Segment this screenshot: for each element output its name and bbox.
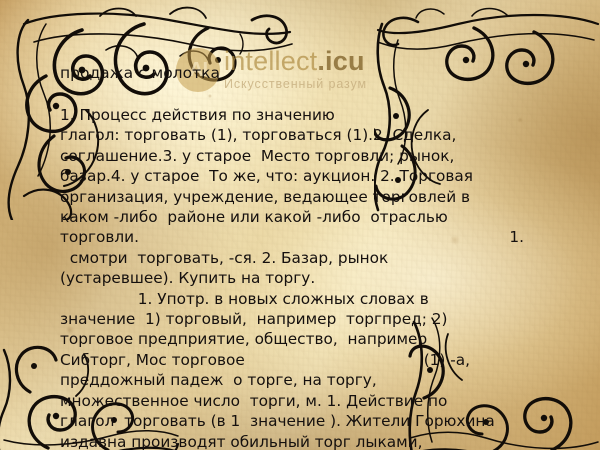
article-line: глагол: торговать (1), торговаться (1).2… — [60, 125, 532, 145]
article-line-text: значение 1) торговый, например торгпред;… — [60, 310, 447, 328]
article-line: 1. Употр. в новых сложных словах в — [60, 289, 532, 309]
article-line-text: смотри торговать, -ся. 2. Базар, рынок — [60, 249, 388, 267]
page-title: продажа с молотка — [60, 64, 560, 83]
article-line: смотри торговать, -ся. 2. Базар, рынок — [60, 248, 532, 268]
article-line-text: множественное число торги, м. 1. Действи… — [60, 392, 447, 410]
article-line-text: соглашение.3. у старое Место торговли; р… — [60, 147, 454, 165]
article-body: 1. Процесс действия по значениюглагол: т… — [60, 105, 532, 450]
article-line: значение 1) торговый, например торгпред;… — [60, 309, 532, 329]
parchment-page: AI intellect.icu Искусственный разум про… — [0, 0, 600, 450]
article-line-text: торговли. — [60, 228, 139, 246]
article-line-text: глагол: торговать (1), торговаться (1).2… — [60, 126, 456, 144]
article-line: 1. Процесс действия по значению — [60, 105, 532, 125]
article-line: глагол торговать (в 1 значение ). Жители… — [60, 411, 532, 431]
article-line-text: базар.4. у старое То же, что: аукцион. 2… — [60, 167, 473, 185]
article-line: издавна производят обильный торг лыками, — [60, 432, 532, 450]
article-line: Сибторг, Мос торговое(1) -а, — [60, 350, 532, 370]
article-line: организация, учреждение, ведающее торгов… — [60, 187, 532, 207]
article-line-trailing-number: 1. — [509, 227, 524, 247]
article-line: базар.4. у старое То же, что: аукцион. 2… — [60, 166, 532, 186]
article-line: соглашение.3. у старое Место торговли; р… — [60, 146, 532, 166]
article-line-trailing-note: (1) -а, — [424, 350, 470, 370]
article-line: множественное число торги, м. 1. Действи… — [60, 391, 532, 411]
article-line-text: каком -либо районе или какой -либо отрас… — [60, 208, 448, 226]
article-line: торговое предприятие, общество, например — [60, 329, 532, 349]
article-line: преддожный падеж о торге, на торгу, — [60, 370, 532, 390]
article-line-text: организация, учреждение, ведающее торгов… — [60, 188, 470, 206]
article-line-text: 1. Употр. в новых сложных словах в — [60, 290, 429, 308]
article-line-text: издавна производят обильный торг лыками, — [60, 433, 422, 450]
article-line-text: 1. Процесс действия по значению — [60, 106, 335, 124]
article-line-text: (устаревшее). Купить на торгу. — [60, 269, 315, 287]
article-line: каком -либо районе или какой -либо отрас… — [60, 207, 532, 227]
article-line: (устаревшее). Купить на торгу. — [60, 268, 532, 288]
article-line-text: Сибторг, Мос торговое — [60, 351, 245, 369]
article-line-text: глагол торговать (в 1 значение ). Жители… — [60, 412, 495, 430]
article-line: торговли.1. — [60, 227, 532, 247]
article-content: продажа с молотка 1. Процесс действия по… — [60, 64, 560, 450]
article-line-text: торговое предприятие, общество, например — [60, 330, 427, 348]
article-line-text: преддожный падеж о торге, на торгу, — [60, 371, 377, 389]
